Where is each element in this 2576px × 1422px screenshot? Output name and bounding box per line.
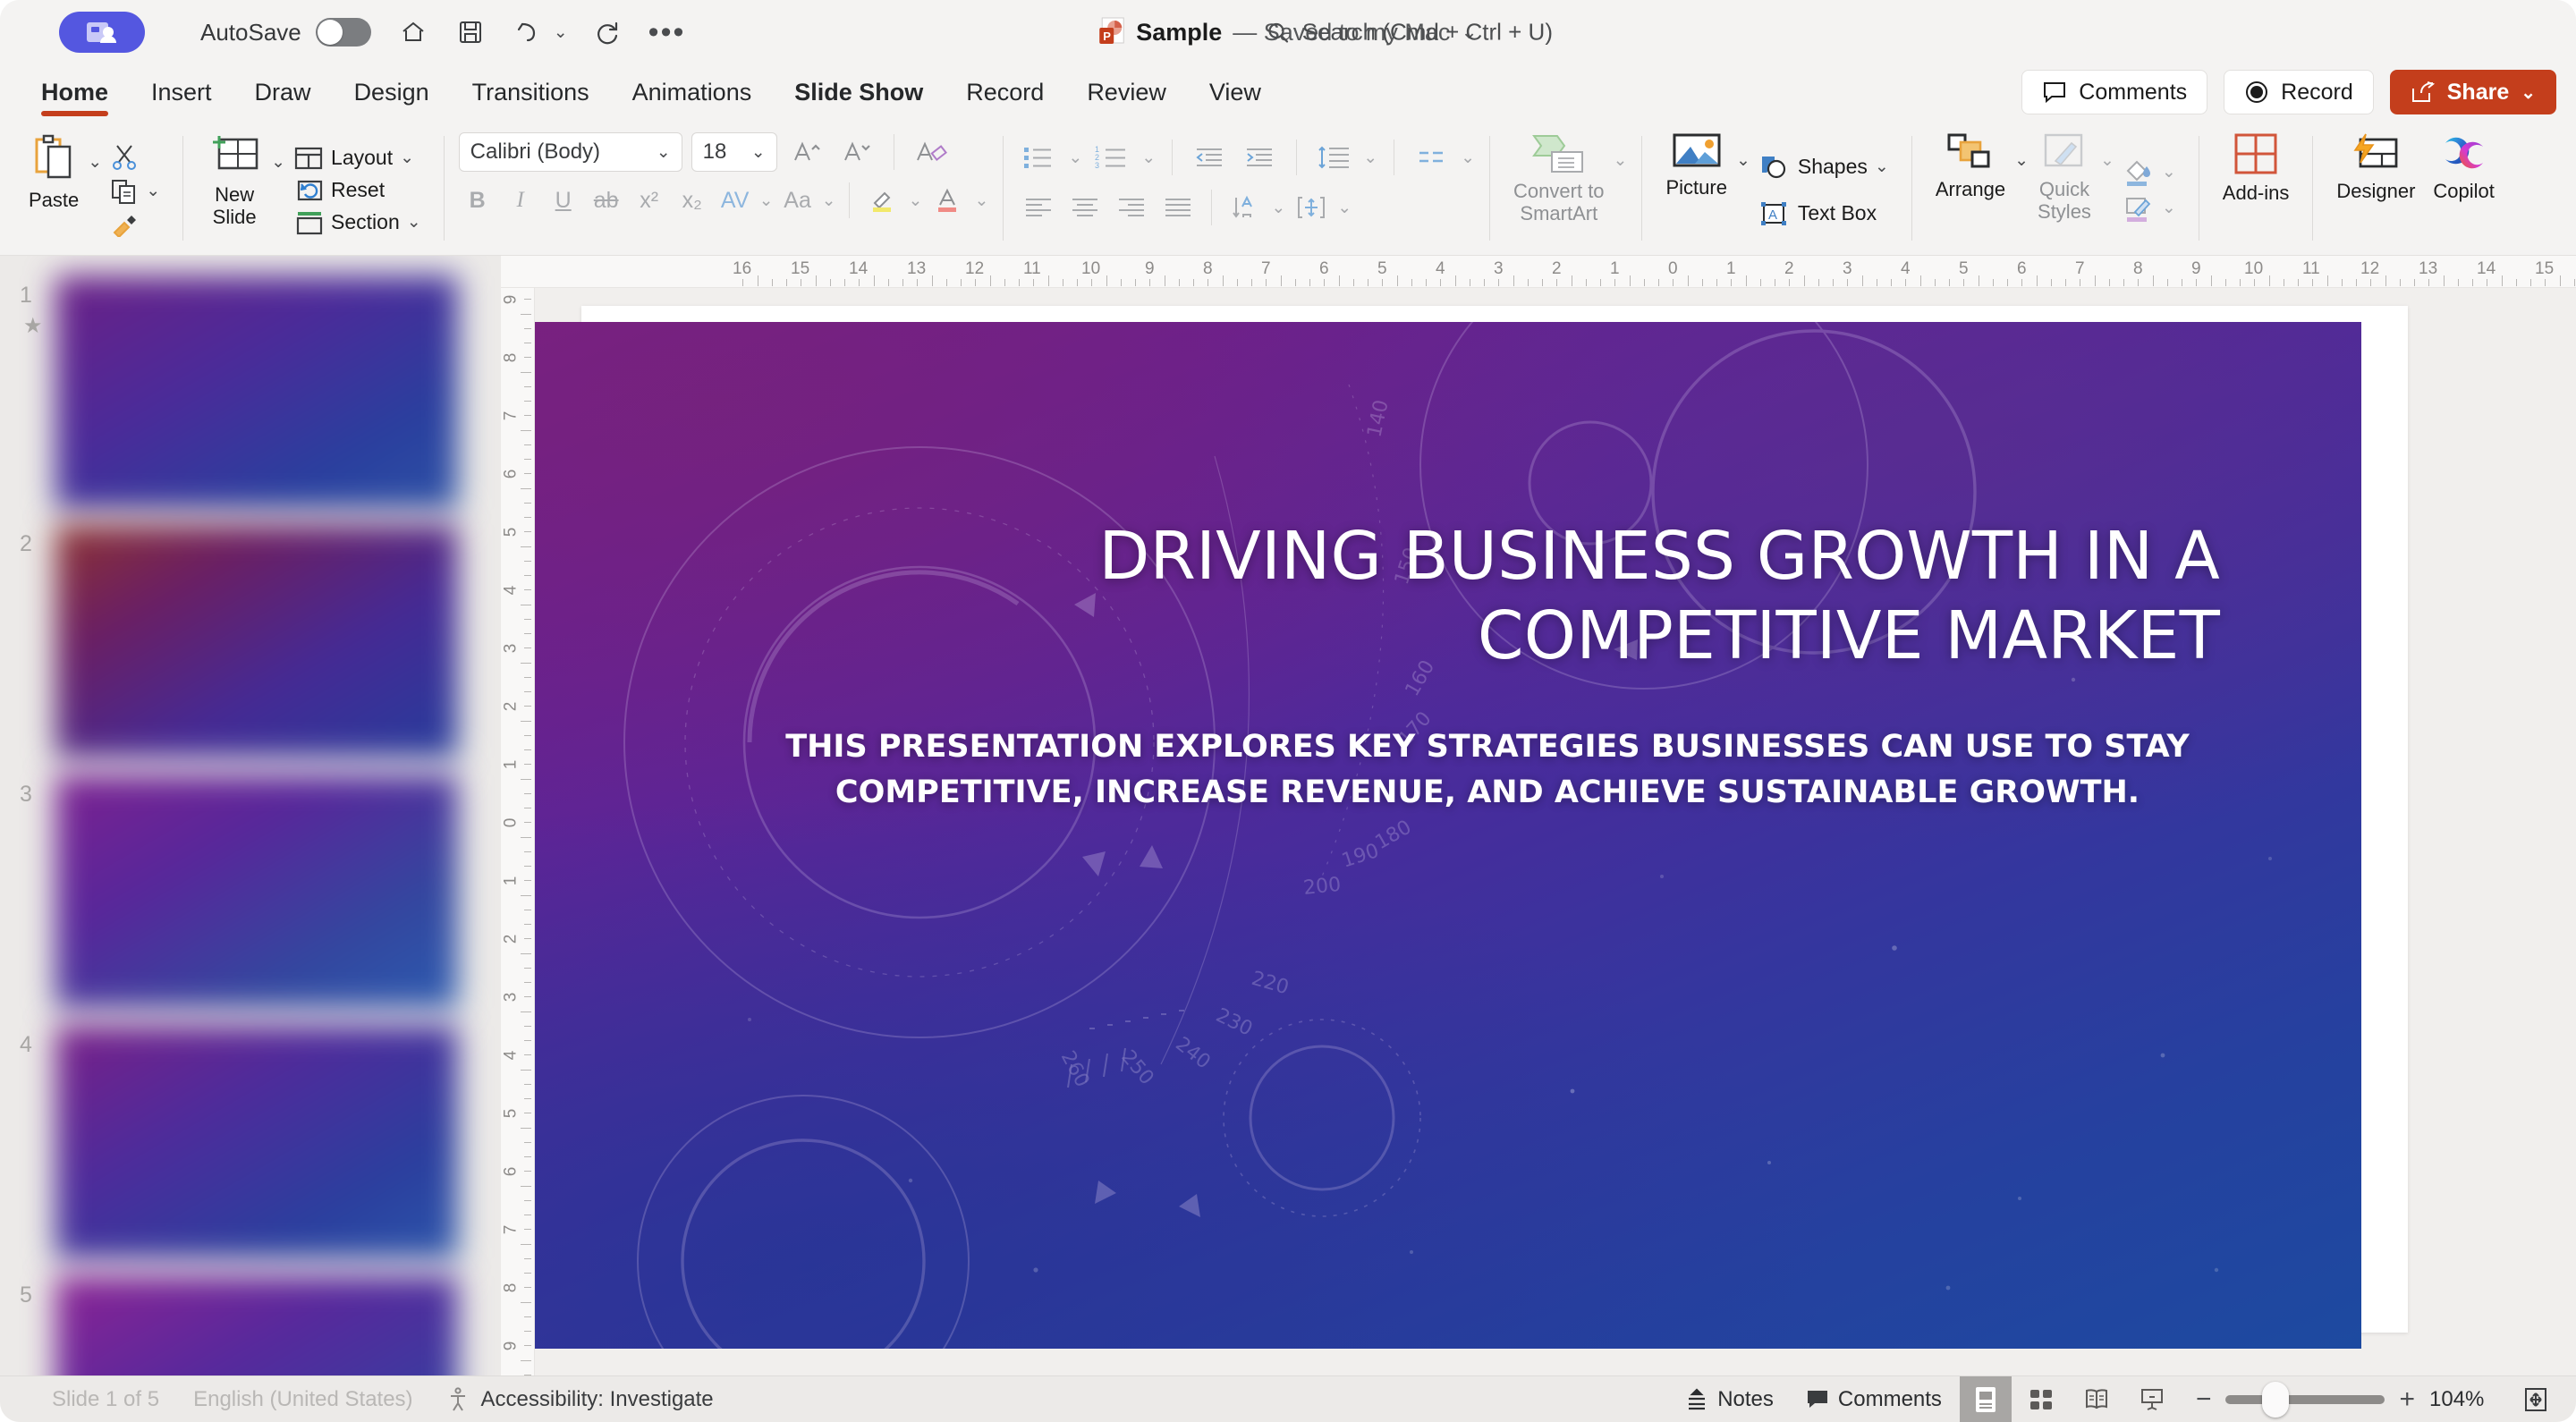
ruler-tick-label: 3 — [1843, 259, 1852, 279]
text-direction-icon[interactable] — [1411, 138, 1452, 177]
ruler-tick — [1397, 275, 1398, 286]
text-highlight-chevron-down-icon[interactable]: ⌄ — [909, 190, 923, 211]
designer-label: Designer — [2336, 181, 2415, 203]
zoom-out-button[interactable]: − — [2196, 1386, 2212, 1413]
ruler-tick-label: 3 — [501, 993, 521, 1003]
slide-sorter-view-icon[interactable] — [2015, 1376, 2067, 1422]
vertical-ruler[interactable]: 9876543210123456789 — [501, 288, 535, 1395]
ruler-tick-label: 7 — [501, 1225, 521, 1235]
shape-format-minibuttons: ⌄ ⌄ — [2114, 125, 2184, 255]
ruler-tick-label: 6 — [501, 470, 521, 479]
ruler-tick — [524, 1331, 531, 1332]
record-label: Record — [2281, 80, 2353, 106]
ruler-tick — [521, 488, 531, 489]
slideshow-view-icon[interactable] — [2126, 1376, 2178, 1422]
ruler-tick-label: 1 — [1610, 259, 1620, 279]
ruler-tick-label: 3 — [1494, 259, 1504, 279]
ruler-tick — [961, 279, 962, 286]
comments-icon — [1806, 1389, 1829, 1410]
slide-editor: 1615141312111098765432101234567891011121… — [501, 256, 2576, 1395]
clear-formatting-icon[interactable] — [911, 132, 952, 172]
ruler-tick — [521, 1070, 531, 1071]
subscript-button[interactable]: x₂ — [674, 188, 711, 214]
shape-outline-icon — [2123, 194, 2155, 223]
ruler-tick — [1339, 275, 1340, 286]
ruler-tick — [1600, 279, 1601, 286]
ruler-tick — [932, 275, 933, 286]
ruler-tick — [1207, 279, 1208, 286]
designer-button[interactable]: Designer — [2327, 125, 2424, 255]
quick-styles-chevron-down-icon[interactable]: ⌄ — [2100, 150, 2114, 171]
ruler-tick — [524, 1098, 531, 1099]
ruler-tick — [1760, 279, 1761, 286]
horizontal-ruler[interactable]: 1615141312111098765432101234567891011121… — [501, 256, 2576, 288]
font-name-select[interactable]: Calibri (Body) ⌄ — [459, 132, 682, 172]
tab-insert[interactable]: Insert — [130, 64, 233, 120]
ruler-tick-label: 8 — [501, 353, 521, 363]
ruler-tick — [1033, 279, 1034, 286]
bold-button[interactable]: B — [459, 188, 496, 214]
ruler-tick — [521, 1244, 531, 1245]
decrease-indent-icon[interactable] — [1189, 138, 1230, 177]
ruler-tick — [524, 1258, 531, 1259]
font-color-chevron-down-icon[interactable]: ⌄ — [974, 190, 988, 211]
ruler-tick — [521, 546, 531, 547]
justify-icon[interactable] — [1157, 188, 1199, 227]
character-spacing-chevron-down-icon[interactable]: ⌄ — [759, 190, 774, 211]
ruler-tick — [521, 430, 531, 431]
paste-button[interactable]: Paste — [20, 125, 88, 255]
ruler-tick — [524, 1200, 531, 1201]
copy-icon — [110, 178, 139, 205]
ruler-tick — [524, 1084, 531, 1085]
font-color-icon[interactable] — [928, 181, 969, 220]
slide-title-text[interactable]: DRIVING BUSINESS GROWTH IN A COMPETITIVE… — [651, 517, 2220, 676]
ruler-tick — [524, 619, 531, 620]
svg-text:A: A — [1768, 207, 1777, 223]
ruler-tick — [524, 1113, 531, 1113]
cut-button[interactable] — [106, 141, 165, 174]
layout-icon — [293, 146, 324, 171]
ruler-tick — [524, 503, 531, 504]
zoom-slider-handle[interactable] — [2262, 1382, 2289, 1418]
strikethrough-button[interactable]: ab — [588, 188, 625, 214]
status-comments-label: Comments — [1838, 1387, 1942, 1412]
ruler-tick — [2109, 279, 2110, 286]
record-circle-icon — [2244, 80, 2269, 105]
document-name: Sample — [1136, 19, 1222, 47]
share-chevron-down-icon[interactable]: ⌄ — [2521, 81, 2536, 104]
change-case-button[interactable]: Aa — [779, 188, 817, 214]
ruler-tick — [524, 401, 531, 402]
tab-home[interactable]: Home — [20, 64, 130, 120]
ruler-tick — [2196, 279, 2197, 286]
ruler-tick — [521, 779, 531, 780]
ruler-tick — [524, 851, 531, 852]
ruler-tick — [1963, 279, 1964, 286]
ruler-tick — [1048, 275, 1049, 286]
ruler-tick — [1586, 279, 1587, 286]
font-size-select[interactable]: 18 ⌄ — [691, 132, 777, 172]
slide-1[interactable]: 140 150 160 170 180 190 200 220 230 240 … — [535, 322, 2361, 1349]
ruler-tick — [1019, 279, 1020, 286]
ruler-tick — [524, 968, 531, 969]
insert-minibuttons: Shapes ⌄ A Text Box — [1750, 125, 1897, 255]
home-icon[interactable] — [396, 15, 430, 49]
status-left: Slide 1 of 5 English (United States) Acc… — [0, 1387, 714, 1412]
slide-thumbnail-number: 2 — [20, 531, 32, 557]
align-text-vertical-icon[interactable] — [1291, 188, 1332, 227]
ruler-tick — [521, 372, 531, 373]
character-spacing-button[interactable]: AV — [716, 188, 754, 214]
ribbon-group-drawing: Arrange ⌄ Quick Styles ⌄ — [1918, 125, 2193, 255]
reading-view-icon[interactable] — [2071, 1376, 2123, 1422]
ruler-tick — [1121, 279, 1122, 286]
ruler-tick — [524, 386, 531, 387]
convert-smartart-chevron-down-icon[interactable]: ⌄ — [1614, 150, 1628, 171]
section-icon — [293, 210, 324, 235]
italic-button[interactable]: I — [502, 188, 539, 213]
ruler-tick — [1746, 275, 1747, 286]
arrange-label: Arrange — [1936, 179, 2005, 201]
ruler-tick — [1833, 279, 1834, 286]
text-direction-chevron-down-icon[interactable]: ⌄ — [1461, 148, 1475, 168]
numbering-chevron-down-icon[interactable]: ⌄ — [1141, 148, 1156, 168]
arrange-chevron-down-icon[interactable]: ⌄ — [2014, 150, 2029, 171]
picture-icon — [1672, 132, 1722, 172]
reset-button[interactable]: Reset — [289, 175, 426, 206]
underline-button[interactable]: U — [545, 188, 582, 214]
fit-slide-to-window-icon[interactable] — [2510, 1376, 2562, 1422]
status-bar: Slide 1 of 5 English (United States) Acc… — [0, 1375, 2576, 1422]
reset-icon — [293, 178, 324, 203]
ruler-tick — [1135, 279, 1136, 286]
ruler-tick — [524, 1040, 531, 1041]
font-size-chevron-down-icon[interactable]: ⌄ — [751, 142, 766, 163]
ruler-tick — [524, 1316, 531, 1317]
slides-minibuttons: Layout ⌄ Reset Section ⌄ — [285, 125, 429, 255]
ruler-tick — [524, 299, 531, 300]
quick-styles-icon — [2041, 132, 2088, 174]
ruler-tick — [1063, 279, 1063, 286]
arrange-icon — [1945, 132, 1996, 174]
ruler-tick — [1614, 279, 1615, 286]
slide-thumbnail-3[interactable] — [55, 774, 458, 1009]
ruler-tick — [524, 575, 531, 576]
picture-chevron-down-icon[interactable]: ⌄ — [1736, 150, 1750, 171]
designer-icon — [2350, 132, 2402, 175]
add-ins-icon — [2233, 132, 2279, 177]
zoom-in-button[interactable]: + — [2399, 1386, 2415, 1413]
autosave-toggle[interactable] — [316, 18, 371, 47]
normal-view-icon[interactable] — [1960, 1376, 2012, 1422]
tab-record[interactable]: Record — [945, 64, 1065, 120]
ruler-tick — [2414, 279, 2415, 286]
ruler-tick — [758, 275, 758, 286]
slide-canvas[interactable]: 140 150 160 170 180 190 200 220 230 240 … — [535, 288, 2576, 1395]
ruler-tick — [2472, 279, 2473, 286]
search-input[interactable]: Search (Cmd + Ctrl + U) — [1266, 19, 1553, 47]
zoom-slider[interactable] — [2225, 1395, 2385, 1404]
ruler-tick — [874, 275, 875, 286]
ruler-tick — [1179, 279, 1180, 286]
ruler-tick — [2080, 279, 2080, 286]
ruler-tick — [1920, 275, 1921, 286]
text-highlight-color-icon[interactable] — [862, 181, 903, 220]
tab-label: Home — [41, 79, 108, 106]
ruler-tick — [2516, 279, 2517, 286]
convert-to-smartart-button[interactable]: Convert to SmartArt — [1504, 125, 1614, 255]
ruler-tick-label: 2 — [501, 702, 521, 712]
record-button[interactable]: Record — [2224, 70, 2374, 114]
textbox-button[interactable]: A Text Box — [1754, 198, 1894, 230]
ruler-tick — [521, 721, 531, 722]
fit-slide-glyph — [2523, 1386, 2548, 1413]
slide-thumbnail-number: 4 — [20, 1032, 32, 1058]
shapes-chevron-down-icon[interactable]: ⌄ — [1875, 157, 1889, 177]
ruler-tick — [524, 1171, 531, 1172]
ruler-tick — [2167, 279, 2168, 286]
comments-label: Comments — [2079, 80, 2187, 106]
tab-view[interactable]: View — [1188, 64, 1283, 120]
tab-draw[interactable]: Draw — [233, 64, 333, 120]
ruler-tick — [1382, 279, 1383, 286]
ruler-tick — [2284, 279, 2284, 286]
ruler-tick-label: 5 — [501, 1109, 521, 1119]
svg-text:3: 3 — [1095, 161, 1099, 170]
ruler-tick — [1528, 279, 1529, 286]
picture-button[interactable]: Picture — [1657, 125, 1735, 255]
notes-button[interactable]: Notes — [1671, 1382, 1788, 1418]
slide-thumbnail-panel[interactable]: 1 ★ 2 3 4 5 — [0, 256, 501, 1395]
tab-design[interactable]: Design — [333, 64, 451, 120]
ruler-tick — [524, 938, 531, 939]
ruler-tick — [1077, 279, 1078, 286]
quick-styles-button[interactable]: Quick Styles — [2029, 125, 2100, 255]
slide-thumbnail-number: 3 — [20, 782, 32, 808]
ruler-tick — [2021, 279, 2022, 286]
slide-thumbnail-2[interactable] — [55, 524, 458, 758]
new-slide-chevron-down-icon[interactable]: ⌄ — [271, 152, 285, 173]
ruler-tick-label: 14 — [2477, 259, 2495, 279]
slide-thumbnail-1[interactable] — [55, 275, 458, 510]
slide-thumbnail-number: 5 — [20, 1282, 32, 1308]
ruler-tick — [524, 459, 531, 460]
ruler-tick-label: 4 — [1436, 259, 1445, 279]
ruler-tick — [1309, 279, 1310, 286]
ruler-tick — [1455, 275, 1456, 286]
comments-button[interactable]: Comments — [2021, 70, 2207, 114]
ruler-tick — [1193, 279, 1194, 286]
change-case-chevron-down-icon[interactable]: ⌄ — [822, 190, 836, 211]
zoom-control: − + 104% — [2182, 1386, 2506, 1413]
ruler-tick — [521, 1011, 531, 1012]
tab-slide-show[interactable]: Slide Show — [773, 64, 945, 120]
undo-dropdown-chevron-down-icon[interactable]: ⌄ — [554, 22, 568, 43]
ruler-tick — [1513, 275, 1514, 286]
ruler-tick — [1891, 279, 1892, 286]
ruler-tick — [2444, 275, 2445, 286]
ruler-tick — [2240, 279, 2241, 286]
add-ins-button[interactable]: Add-ins — [2214, 125, 2299, 255]
ruler-tick — [524, 1156, 531, 1157]
ruler-tick — [524, 749, 531, 750]
comment-bubble-icon — [2042, 80, 2067, 104]
copy-button[interactable]: ⌄ — [106, 175, 165, 207]
tab-label: Slide Show — [794, 79, 923, 106]
ruler-tick-label: 12 — [965, 259, 984, 279]
ruler-tick — [1789, 279, 1790, 286]
decrease-font-size-icon[interactable] — [836, 132, 877, 172]
ruler-tick-label: 7 — [1261, 259, 1271, 279]
autosave-control[interactable]: AutoSave — [200, 18, 371, 47]
ruler-tick-label: 12 — [2360, 259, 2379, 279]
ruler-tick — [1630, 275, 1631, 286]
ruler-tick-label: 8 — [2133, 259, 2143, 279]
ruler-tick — [801, 279, 801, 286]
section-button[interactable]: Section ⌄ — [289, 207, 426, 238]
tab-label: Insert — [151, 79, 212, 106]
tab-review[interactable]: Review — [1065, 64, 1188, 120]
ruler-tick — [524, 706, 531, 707]
slide-counter: Slide 1 of 5 — [52, 1387, 159, 1412]
ruler-tick — [524, 328, 531, 329]
zoom-level-label[interactable]: 104% — [2429, 1387, 2492, 1412]
ruler-tick — [524, 1054, 531, 1055]
ruler-tick-label: 2 — [1784, 259, 1794, 279]
undo-icon[interactable] — [511, 15, 545, 49]
ruler-tick-label: 6 — [1319, 259, 1329, 279]
redo-icon[interactable] — [591, 15, 625, 49]
format-painter-button[interactable] — [106, 209, 165, 240]
ruler-tick — [521, 663, 531, 664]
ruler-tick — [1673, 279, 1674, 286]
share-label: Share — [2447, 80, 2509, 106]
ruler-tick — [1542, 279, 1543, 286]
ruler-tick — [524, 1142, 531, 1143]
ruler-tick — [2385, 275, 2386, 286]
accessibility-label: Accessibility: Investigate — [481, 1387, 714, 1412]
ruler-tick — [524, 822, 531, 823]
ruler-tick — [1324, 279, 1325, 286]
ruler-tick — [2400, 279, 2401, 286]
ruler-tick — [1862, 275, 1863, 286]
ruler-tick — [1004, 279, 1005, 286]
ruler-tick — [1223, 275, 1224, 286]
save-icon[interactable] — [453, 15, 487, 49]
line-spacing-chevron-down-icon[interactable]: ⌄ — [1363, 148, 1377, 168]
new-slide-button[interactable]: New Slide — [198, 125, 271, 255]
layout-button[interactable]: Layout ⌄ — [289, 143, 426, 174]
numbering-icon[interactable]: 1 2 3 — [1091, 138, 1132, 177]
reading-view-glyph — [2083, 1387, 2110, 1412]
align-center-icon[interactable] — [1064, 188, 1106, 227]
accessibility-status[interactable]: Accessibility: Investigate — [447, 1387, 714, 1412]
ruler-tick — [786, 279, 787, 286]
sort-icon[interactable] — [1224, 188, 1266, 227]
ruler-tick — [772, 279, 773, 286]
ruler-tick-label: 1 — [501, 760, 521, 770]
bullets-icon[interactable] — [1018, 138, 1059, 177]
ruler-tick — [524, 1345, 531, 1346]
copy-chevron-down-icon[interactable]: ⌄ — [146, 181, 160, 201]
copilot-button[interactable]: Copilot — [2424, 125, 2503, 255]
ruler-tick — [2560, 275, 2561, 286]
slideshow-glyph — [2139, 1387, 2165, 1412]
ruler-tick-label: 2 — [1552, 259, 1562, 279]
share-button[interactable]: Share ⌄ — [2390, 70, 2556, 114]
ruler-tick — [1905, 279, 1906, 286]
arrange-button[interactable]: Arrange — [1927, 125, 2014, 255]
status-right: Notes Comments — [1671, 1376, 2576, 1422]
slide-subtitle-text[interactable]: THIS PRESENTATION EXPLORES KEY STRATEGIE… — [766, 724, 2209, 816]
bullets-chevron-down-icon[interactable]: ⌄ — [1068, 148, 1082, 168]
status-comments-button[interactable]: Comments — [1792, 1382, 1956, 1418]
superscript-button[interactable]: x² — [631, 188, 668, 214]
align-text-chevron-down-icon[interactable]: ⌄ — [1337, 198, 1352, 218]
shapes-icon — [1758, 154, 1791, 181]
ruler-tick — [1484, 279, 1485, 286]
align-left-icon[interactable] — [1018, 188, 1059, 227]
ruler-tick-label: 6 — [2017, 259, 2027, 279]
ruler-tick — [830, 279, 831, 286]
ruler-tick-label: 13 — [907, 259, 926, 279]
quick-access-toolbar: ⌄ ••• — [396, 15, 686, 49]
layout-chevron-down-icon[interactable]: ⌄ — [400, 148, 414, 168]
ruler-tick-label: 8 — [1203, 259, 1213, 279]
paragraph-row-1: ⌄ 1 2 3 ⌄ — [1018, 125, 1475, 177]
ruler-tick — [859, 279, 860, 286]
tab-label: Transitions — [472, 79, 589, 106]
paste-chevron-down-icon[interactable]: ⌄ — [88, 152, 102, 173]
increase-indent-icon[interactable] — [1239, 138, 1280, 177]
tab-label: Draw — [255, 79, 311, 106]
ruler-tick — [521, 1128, 531, 1129]
slide-sorter-glyph — [2029, 1387, 2054, 1412]
line-spacing-icon[interactable] — [1313, 138, 1354, 177]
sort-chevron-down-icon[interactable]: ⌄ — [1271, 198, 1285, 218]
ruler-tick — [1266, 279, 1267, 286]
shapes-button[interactable]: Shapes ⌄ — [1754, 151, 1894, 183]
section-chevron-down-icon[interactable]: ⌄ — [407, 212, 421, 233]
font-name-chevron-down-icon[interactable]: ⌄ — [657, 142, 671, 163]
ruler-tick-label: 9 — [501, 1342, 521, 1351]
increase-font-size-icon[interactable] — [786, 132, 827, 172]
ruler-tick — [521, 605, 531, 605]
ruler-tick-label: 9 — [501, 295, 521, 305]
align-right-icon[interactable] — [1111, 188, 1152, 227]
tab-transitions[interactable]: Transitions — [451, 64, 611, 120]
language-indicator[interactable]: English (United States) — [193, 1387, 412, 1412]
slide-thumbnail-star-icon: ★ — [23, 313, 43, 339]
ruler-tick-label: 11 — [2302, 259, 2320, 279]
tab-animations[interactable]: Animations — [611, 64, 774, 120]
ruler-tick — [1353, 279, 1354, 286]
reset-label: Reset — [331, 178, 385, 202]
shape-outline-chevron-down-icon[interactable]: ⌄ — [2162, 198, 2176, 218]
ribbon-display-options-icon[interactable] — [59, 12, 145, 53]
shape-outline-button[interactable]: ⌄ — [2118, 191, 2181, 225]
ruler-tick — [524, 531, 531, 532]
ruler-tick — [521, 314, 531, 315]
ruler-tick — [524, 808, 531, 808]
shape-fill-button[interactable]: ⌄ — [2118, 156, 2181, 190]
ruler-tick — [1949, 279, 1950, 286]
ruler-tick — [524, 1026, 531, 1027]
more-options-icon[interactable]: ••• — [648, 26, 686, 38]
shape-fill-chevron-down-icon[interactable]: ⌄ — [2162, 162, 2176, 182]
slide-thumbnail-4[interactable] — [55, 1025, 458, 1259]
